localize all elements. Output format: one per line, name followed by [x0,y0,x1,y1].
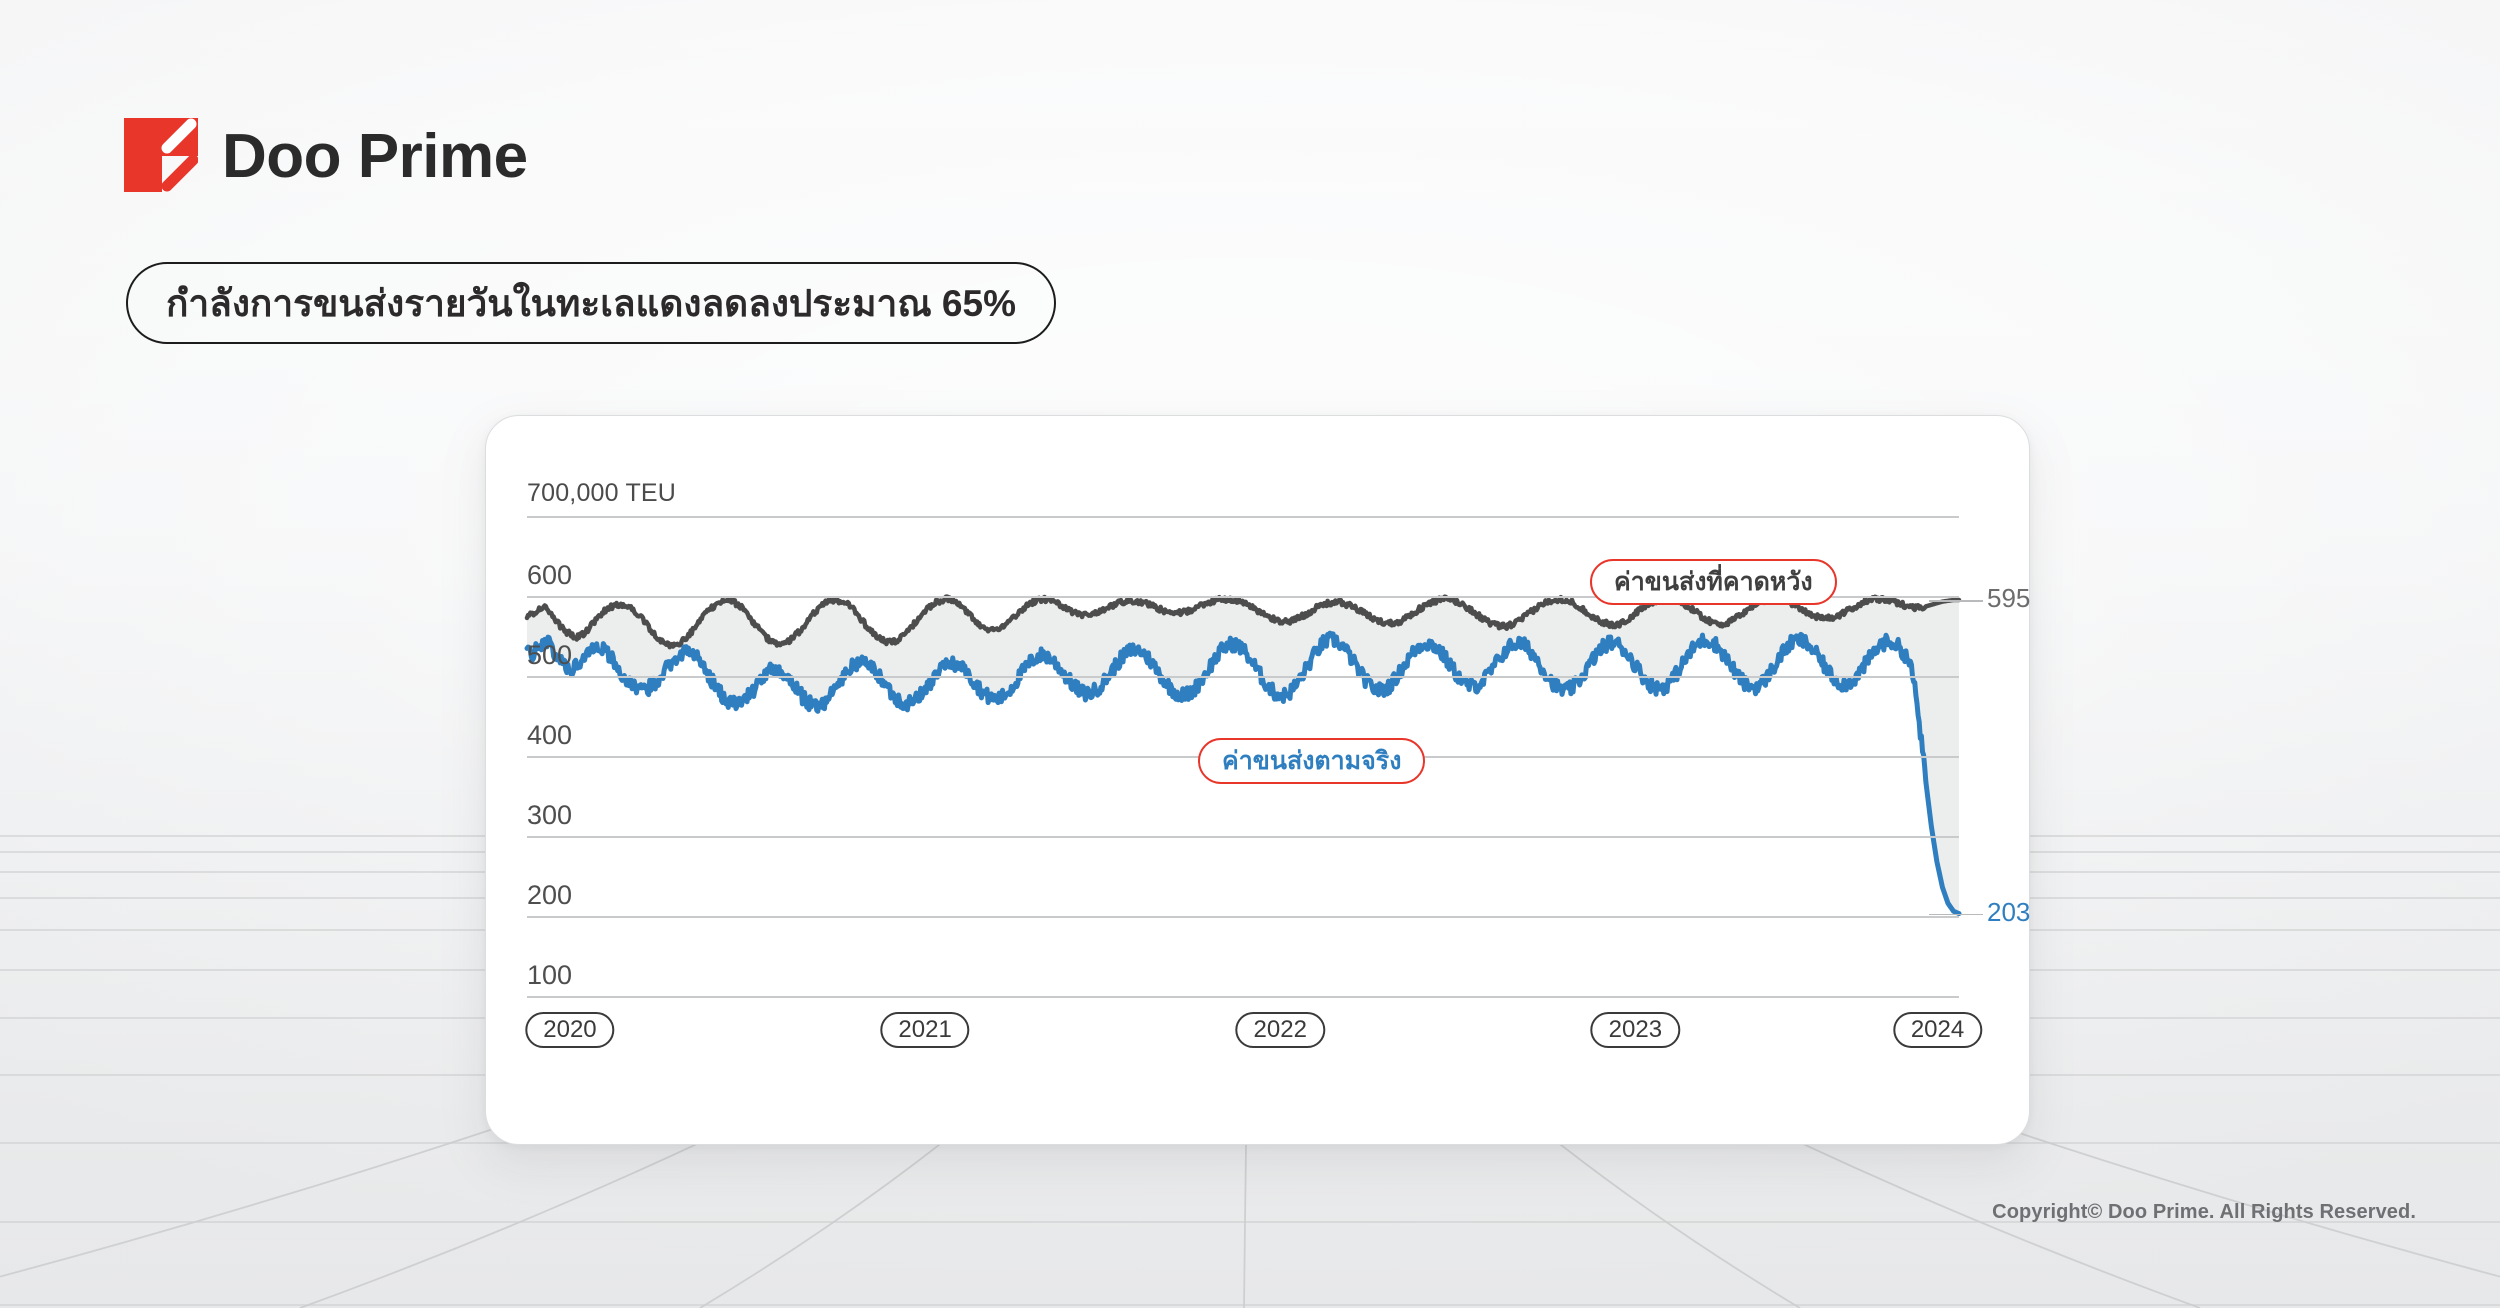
headline-banner: กำลังการขนส่งรายวันในทะเลแดงลดลงประมาณ 6… [126,262,1056,344]
chart-card: 700,000 TEU 600500400300200100 ค่าขนส่งท… [485,415,2030,1145]
chart: 700,000 TEU 600500400300200100 ค่าขนส่งท… [486,416,2029,1144]
expected-value-leader-line [1929,600,1983,602]
headline-text: กำลังการขนส่งรายวันในทะเลแดงลดลงประมาณ 6… [166,285,1016,322]
brand-name: Doo Prime [222,126,528,188]
doo-prime-mark-icon [124,118,198,192]
x-tick-year-2024[interactable]: 2024 [1893,1012,1982,1048]
actual-end-value: 203 [1987,897,2030,928]
y-axis-unit-label: 700,000 TEU [527,479,676,508]
gridline-700 [527,516,1959,518]
brand-logo: Doo Prime [124,118,528,192]
legend-actual-label: ค่าขนส่งตามจริง [1222,741,1401,781]
gridline-200 [527,916,1959,918]
legend-expected-freight-rate[interactable]: ค่าขนส่งที่คาดหวัง [1590,559,1837,605]
y-tick-label-400: 400 [527,720,599,756]
gridline-100 [527,996,1959,998]
y-tick-label-600: 600 [527,560,599,596]
x-tick-year-2020[interactable]: 2020 [525,1012,614,1048]
x-axis: 20202021202220232024 [527,1012,1959,1056]
x-tick-year-2022[interactable]: 2022 [1236,1012,1325,1048]
expected-end-value: 595 [1987,583,2030,614]
actual-value-leader-line [1929,914,1983,916]
y-tick-label-100: 100 [527,960,599,996]
gridline-500 [527,676,1959,678]
y-tick-label-500: 500 [527,640,599,676]
y-tick-label-300: 300 [527,800,599,836]
x-tick-year-2023[interactable]: 2023 [1591,1012,1680,1048]
gridline-300 [527,836,1959,838]
footer-copyright: Copyright© Doo Prime. All Rights Reserve… [1992,1201,2416,1224]
legend-expected-label: ค่าขนส่งที่คาดหวัง [1614,562,1813,602]
x-tick-year-2021[interactable]: 2021 [880,1012,969,1048]
legend-actual-freight-rate[interactable]: ค่าขนส่งตามจริง [1198,738,1425,784]
y-tick-label-200: 200 [527,880,599,916]
